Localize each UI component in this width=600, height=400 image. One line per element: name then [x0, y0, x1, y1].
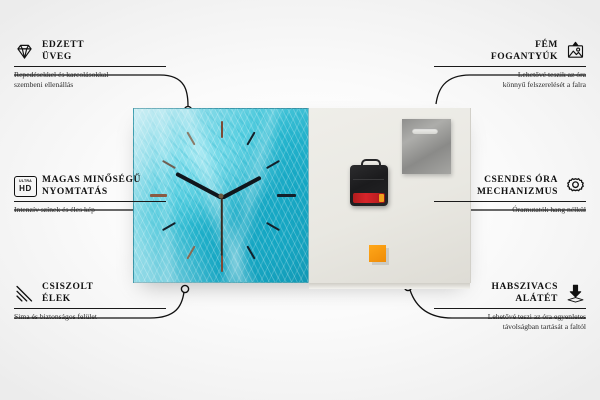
- callout-tempered-glass: EDZETT ÜVEG Repedésekkel és karcolásokka…: [14, 40, 192, 89]
- picture-hanger-icon: [565, 41, 586, 62]
- callout-title-row: FÉM FOGANTYÚK: [408, 40, 586, 63]
- callout-silent-mechanism: CSENDES ÓRA MECHANIZMUS Óramutatók hang …: [408, 175, 586, 215]
- callout-desc: Sima és biztonságos felület: [14, 312, 192, 322]
- clock-hub: [219, 193, 224, 198]
- callout-title: FÉM FOGANTYÚK: [491, 40, 558, 63]
- callout-desc: Óramutatók hang nélkül: [408, 205, 586, 215]
- callout-divider: [14, 201, 166, 202]
- infographic-stage: EDZETT ÜVEG Repedésekkel és karcolásokka…: [0, 0, 600, 400]
- callout-title: EDZETT ÜVEG: [42, 40, 84, 63]
- mechanism-seam: [353, 179, 384, 180]
- callout-divider: [14, 308, 166, 309]
- silent-clock-mechanism: [350, 165, 388, 206]
- callout-hd-print: ultra HD MAGAS MINŐSÉGŰ NYOMTATÁS Intenz…: [14, 175, 192, 215]
- callout-title-row: EDZETT ÜVEG: [14, 40, 192, 63]
- callout-divider: [434, 308, 586, 309]
- callout-desc: Repedésekkel és karcolásokkal szembeni e…: [14, 70, 192, 89]
- callout-title: MAGAS MINŐSÉGŰ NYOMTATÁS: [42, 175, 141, 198]
- callout-desc: Lehetővé teszi az óra egyenletes távolsá…: [408, 312, 586, 331]
- callout-foam-pad: HABSZIVACS ALÁTÉT Lehetővé teszi az óra …: [408, 282, 586, 331]
- mechanism-bail: [361, 159, 381, 169]
- hd-badge: ultra HD: [14, 176, 37, 197]
- metal-hanger-plate: [402, 119, 451, 174]
- callout-title-row: CSENDES ÓRA MECHANIZMUS: [408, 175, 586, 198]
- callout-desc: Intenzív színek és éles kép: [14, 205, 192, 215]
- callout-desc: Lehetővé teszik az óra könnyű felszerelé…: [408, 70, 586, 89]
- callout-title-row: CSISZOLT ÉLEK: [14, 282, 192, 305]
- callout-title: HABSZIVACS ALÁTÉT: [491, 282, 558, 305]
- callout-metal-handles: FÉM FOGANTYÚK Lehetővé teszik az óra kön…: [408, 40, 586, 89]
- diamond-icon: [14, 41, 35, 62]
- callout-polished-edges: CSISZOLT ÉLEK Sima és biztonságos felüle…: [14, 282, 192, 322]
- callout-title-row: ultra HD MAGAS MINŐSÉGŰ NYOMTATÁS: [14, 175, 192, 198]
- gear-icon: [565, 176, 586, 197]
- callout-title-row: HABSZIVACS ALÁTÉT: [408, 282, 586, 305]
- callout-divider: [14, 66, 166, 67]
- hd-badge-large: HD: [19, 185, 32, 193]
- callout-title: CSENDES ÓRA MECHANIZMUS: [477, 175, 558, 198]
- foam-spacer-pad: [369, 245, 386, 262]
- foam-pad-arrow-icon: [565, 283, 586, 304]
- hanger-slot: [412, 128, 438, 134]
- callout-title: CSISZOLT ÉLEK: [42, 282, 93, 305]
- tick-6: [221, 255, 223, 272]
- tick-3: [277, 194, 296, 197]
- ultra-hd-icon: ultra HD: [14, 176, 35, 197]
- second-hand: [221, 198, 223, 256]
- callout-divider: [434, 66, 586, 67]
- tick-12: [221, 121, 223, 138]
- battery: [353, 193, 385, 203]
- callout-divider: [434, 201, 586, 202]
- polished-edge-icon: [14, 283, 35, 304]
